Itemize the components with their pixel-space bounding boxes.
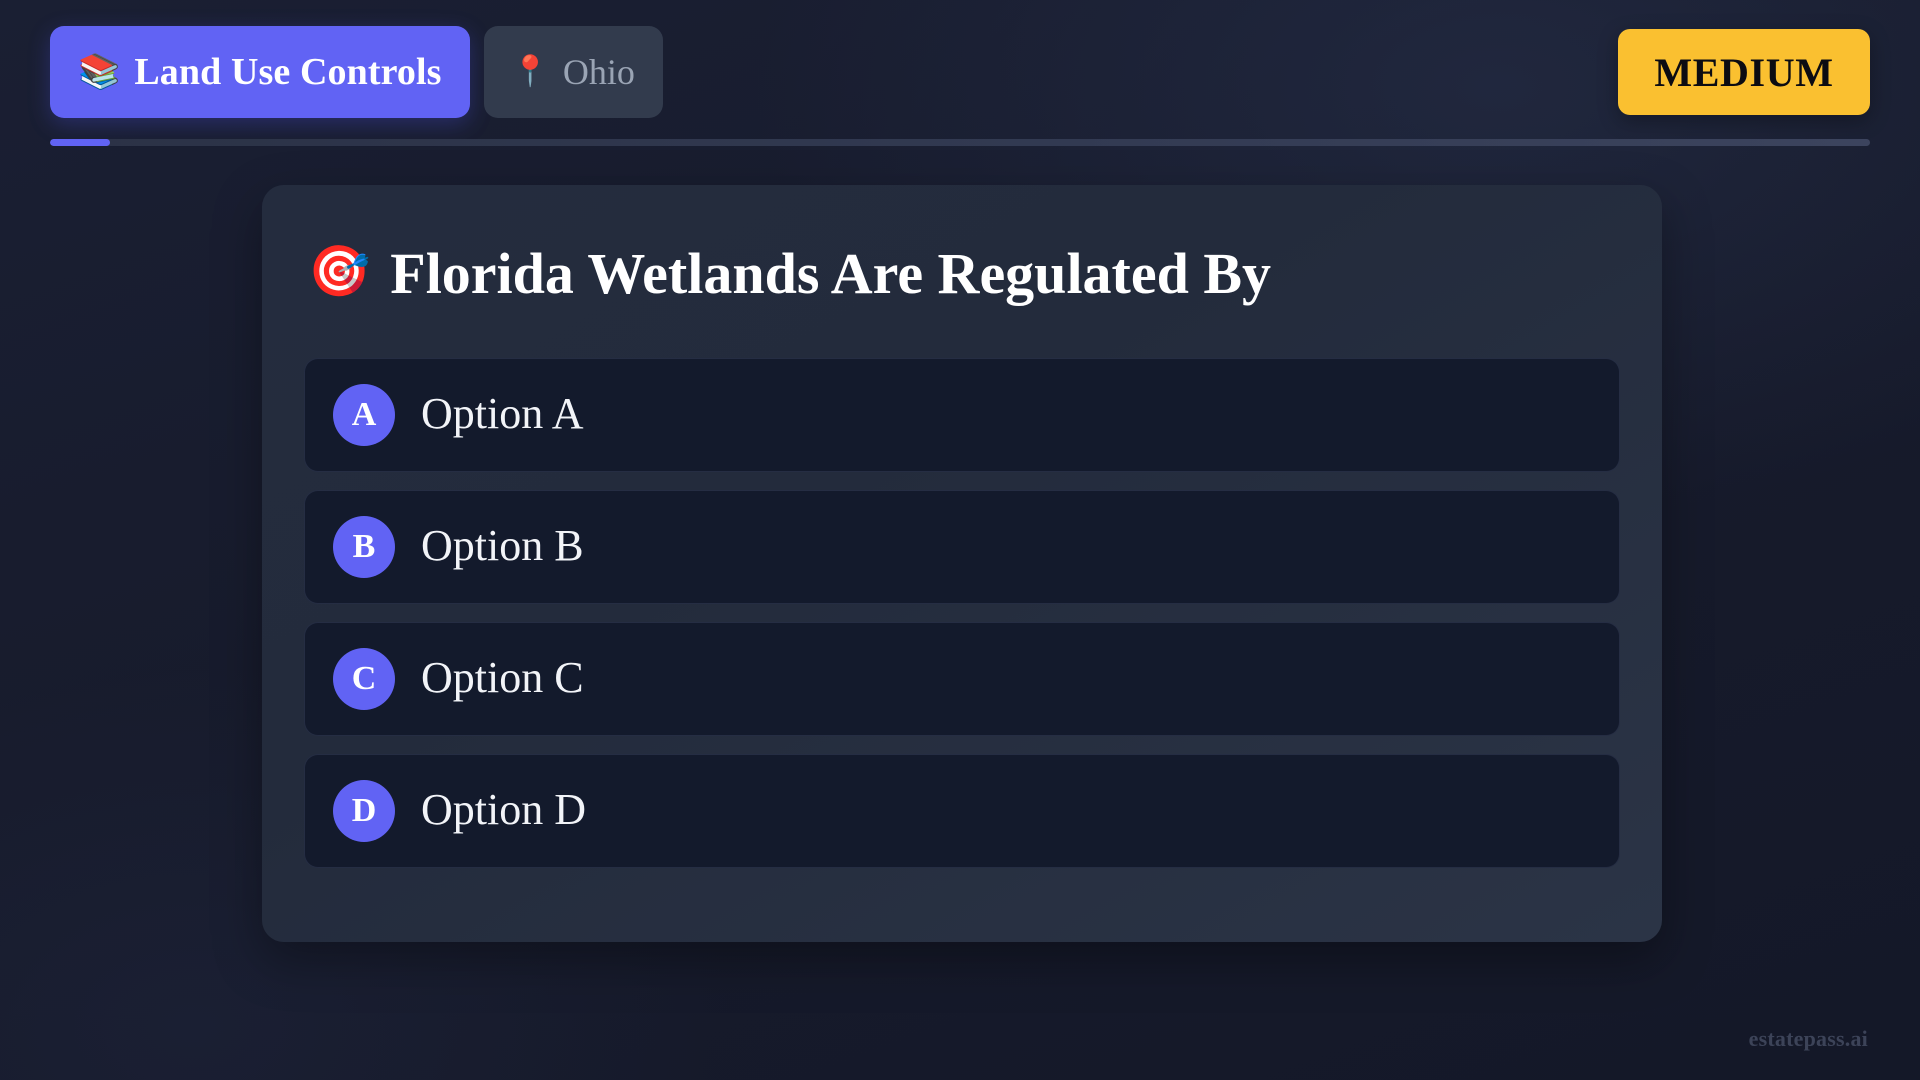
option-row-c[interactable]: C Option C bbox=[304, 622, 1620, 736]
option-label-b: Option B bbox=[421, 522, 584, 570]
header-bar: 📚 Land Use Controls 📍 Ohio MEDIUM bbox=[50, 24, 1870, 120]
progress-bar-track bbox=[50, 139, 1870, 146]
option-letter-badge-d: D bbox=[333, 780, 395, 842]
topic-chip[interactable]: 📚 Land Use Controls bbox=[50, 26, 470, 118]
option-label-d: Option D bbox=[421, 786, 586, 834]
progress-bar-fill bbox=[50, 139, 110, 146]
difficulty-badge: MEDIUM bbox=[1618, 29, 1870, 115]
map-pin-icon: 📍 bbox=[512, 57, 549, 87]
option-letter-badge-b: B bbox=[333, 516, 395, 578]
watermark: estatepass.ai bbox=[1749, 1026, 1868, 1052]
difficulty-badge-label: MEDIUM bbox=[1654, 49, 1833, 96]
option-letter-badge-a: A bbox=[333, 384, 395, 446]
answer-options-list: A Option A B Option B C Option C D Optio… bbox=[304, 358, 1620, 868]
books-icon: 📚 bbox=[78, 55, 120, 89]
topic-chip-label: Land Use Controls bbox=[134, 50, 441, 94]
option-row-b[interactable]: B Option B bbox=[304, 490, 1620, 604]
option-label-c: Option C bbox=[421, 654, 584, 702]
target-dart-icon: 🎯 bbox=[308, 243, 370, 301]
region-chip-label: Ohio bbox=[563, 51, 635, 93]
question-card: 🎯 Florida Wetlands Are Regulated By A Op… bbox=[262, 185, 1662, 942]
region-chip[interactable]: 📍 Ohio bbox=[484, 26, 663, 118]
option-row-d[interactable]: D Option D bbox=[304, 754, 1620, 868]
option-letter-badge-c: C bbox=[333, 648, 395, 710]
question-title: 🎯 Florida Wetlands Are Regulated By bbox=[304, 243, 1620, 306]
option-label-a: Option A bbox=[421, 390, 584, 438]
option-row-a[interactable]: A Option A bbox=[304, 358, 1620, 472]
question-title-text: Florida Wetlands Are Regulated By bbox=[390, 243, 1271, 306]
